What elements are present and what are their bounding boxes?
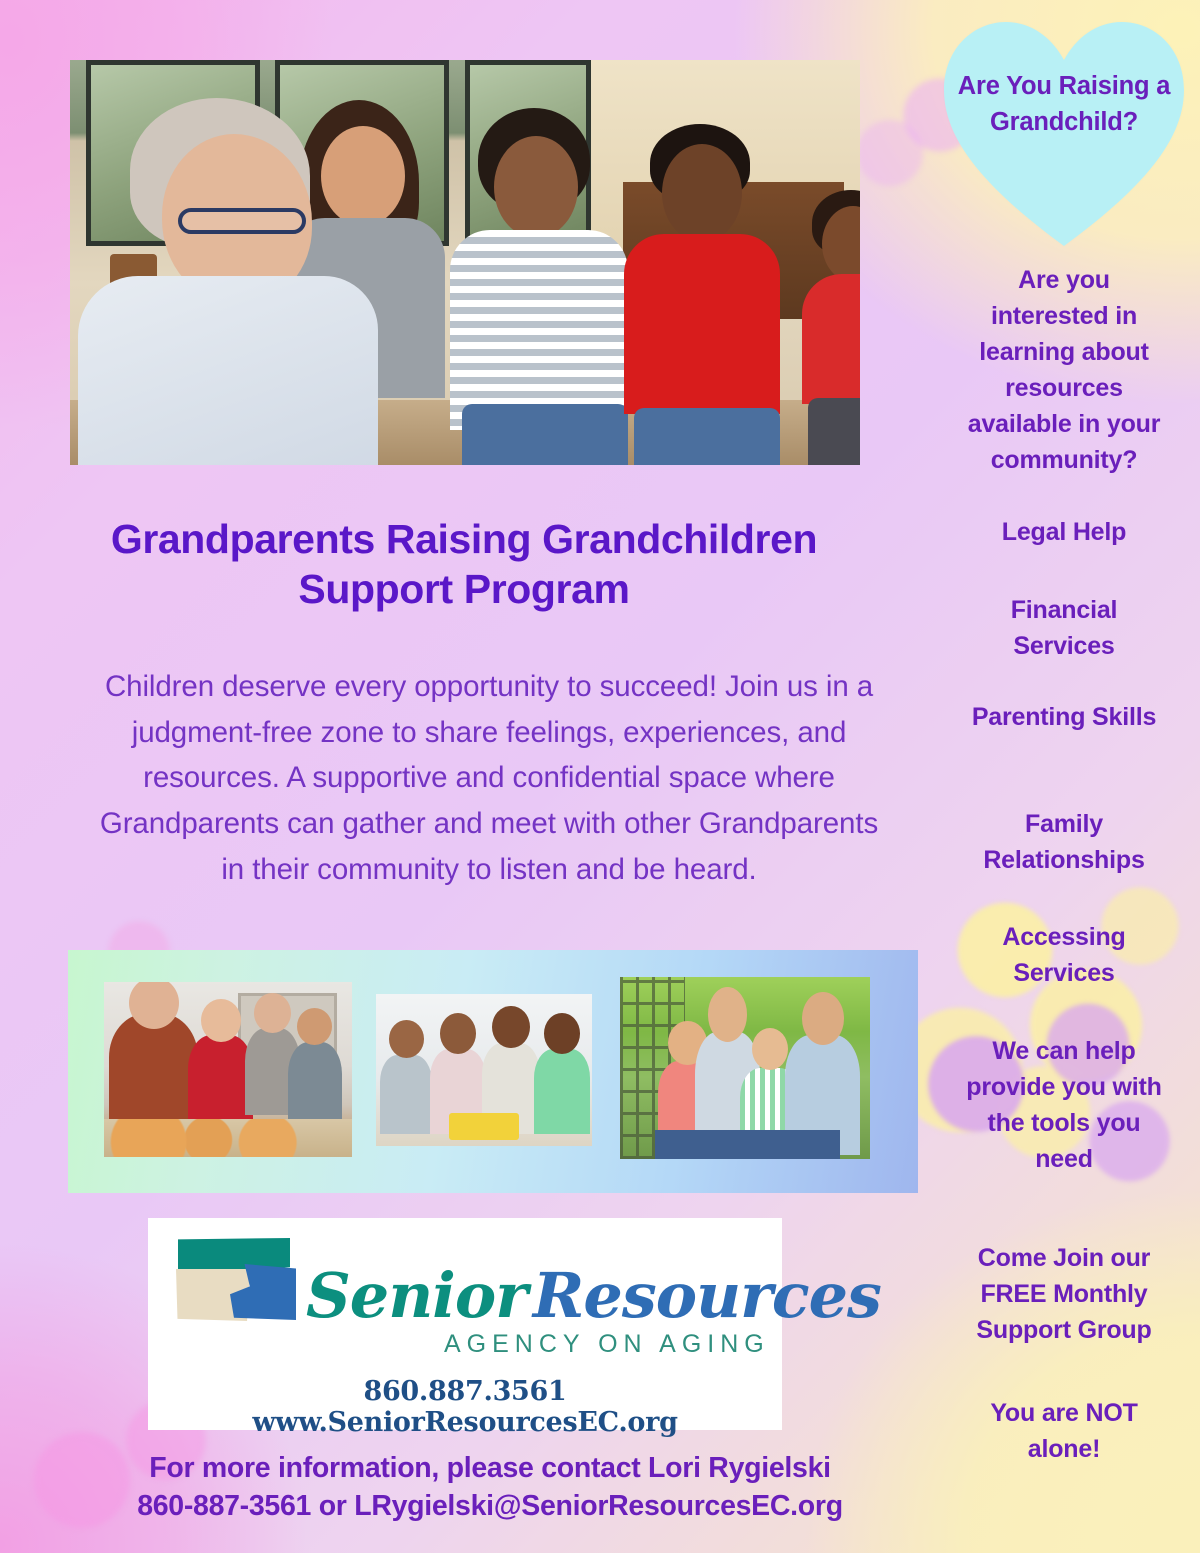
photo-reading [376, 994, 592, 1146]
intro-line-6: community? [934, 442, 1194, 478]
title-line-2: Support Program [56, 564, 872, 614]
logo-tagline: AGENCY ON AGING [444, 1330, 770, 1359]
service-label: Legal Help [934, 518, 1194, 547]
right-sidebar: Are You Raising a Grandchild? Are you in… [928, 0, 1200, 1553]
intro-line-2: interested in [934, 298, 1194, 334]
sidebar-service-parenting-skills: Parenting Skills [934, 703, 1194, 732]
senior-resources-logo-mark [176, 1238, 298, 1326]
hero-support-group-photo [70, 60, 860, 465]
sidebar-service-legal-help: Legal Help [934, 518, 1194, 547]
sidebar-not-alone-message: You are NOT alone! [934, 1395, 1194, 1467]
photo-cooking [104, 982, 352, 1157]
logo-word-resources: Resources [533, 1259, 881, 1332]
tools-line-2: provide you with [934, 1069, 1194, 1105]
program-description: Children deserve every opportunity to su… [96, 664, 882, 893]
service-label: Parenting Skills [934, 703, 1194, 732]
photo-strip-band [68, 950, 918, 1193]
sidebar-intro-question: Are you interested in learning about res… [934, 262, 1194, 478]
service-label-2: Relationships [934, 843, 1194, 879]
intro-line-4: resources [934, 370, 1194, 406]
senior-resources-logo-card: SeniorResources AGENCY ON AGING 860.887.… [148, 1218, 782, 1430]
service-label-2: Services [934, 956, 1194, 992]
intro-line-1: Are you [934, 262, 1194, 298]
intro-line-3: learning about [934, 334, 1194, 370]
heart-line-2: Raising a [1059, 72, 1171, 100]
join-line-1: Come Join our [934, 1240, 1194, 1276]
alone-line-1: You are NOT [934, 1395, 1194, 1431]
sidebar-service-accessing-services: Accessing Services [934, 920, 1194, 991]
join-line-2: FREE Monthly [934, 1276, 1194, 1312]
heart-line-3: Grandchild? [990, 108, 1138, 136]
sidebar-tools-message: We can help provide you with the tools y… [934, 1033, 1194, 1177]
alone-line-2: alone! [934, 1431, 1194, 1467]
heart-callout: Are You Raising a Grandchild? [942, 18, 1186, 248]
join-line-3: Support Group [934, 1312, 1194, 1348]
main-content-column: Grandparents Raising Grandchildren Suppo… [0, 0, 928, 1553]
footer-line-2: 860-887-3561 or LRygielski@SeniorResourc… [40, 1488, 940, 1526]
footer-contact: For more information, please contact Lor… [40, 1450, 940, 1525]
sidebar-service-financial-services: Financial Services [934, 593, 1194, 664]
page-title: Grandparents Raising Grandchildren Suppo… [56, 514, 872, 614]
tools-line-1: We can help [934, 1033, 1194, 1069]
service-label-2: Services [934, 629, 1194, 665]
title-line-1: Grandparents Raising Grandchildren [111, 516, 817, 562]
photo-garden [620, 977, 870, 1159]
footer-line-1: For more information, please contact Lor… [40, 1450, 940, 1488]
sidebar-join-cta: Come Join our FREE Monthly Support Group [934, 1240, 1194, 1348]
service-label: Family [934, 807, 1194, 843]
heart-line-1: Are You [958, 72, 1052, 100]
logo-word-senior: Senior [306, 1259, 527, 1332]
service-label: Financial [934, 593, 1194, 629]
flyer-page: Grandparents Raising Grandchildren Suppo… [0, 0, 1200, 1553]
intro-line-5: available in your [934, 406, 1194, 442]
sidebar-service-family-relationships: Family Relationships [934, 807, 1194, 878]
service-label: Accessing [934, 920, 1194, 956]
tools-line-4: need [934, 1141, 1194, 1177]
logo-contact-line: 860.887.3561 www.SeniorResourcesEC.org [148, 1376, 782, 1438]
tools-line-3: the tools you [934, 1105, 1194, 1141]
